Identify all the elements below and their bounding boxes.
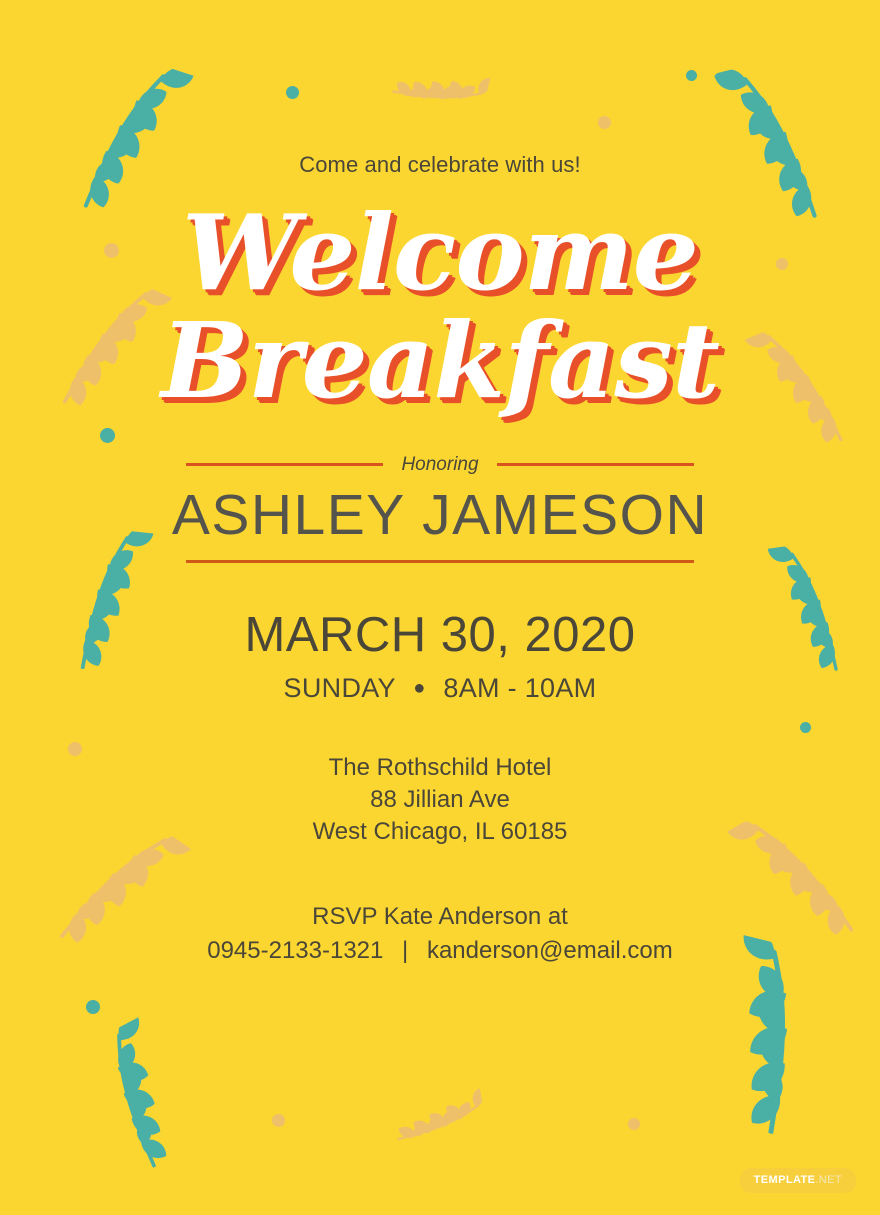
honoring-rule-left <box>186 463 383 466</box>
rsvp-contacts: 0945-2133-1321 | kanderson@email.com <box>207 934 673 968</box>
event-day-time: SUNDAY ● 8AM - 10AM <box>284 673 597 704</box>
honoring-rule-right <box>497 463 694 466</box>
event-date: MARCH 30, 2020 <box>244 607 635 663</box>
honoree-rule-bottom <box>186 560 694 563</box>
honoree-name: ASHLEY JAMESON <box>172 482 708 548</box>
tagline: Come and celebrate with us! <box>299 152 581 178</box>
rsvp-email[interactable]: kanderson@email.com <box>427 937 673 964</box>
title-block: Welcome Breakfast <box>161 202 719 412</box>
watermark-brand: TEMPLATE <box>754 1174 816 1186</box>
rsvp-phone[interactable]: 0945-2133-1321 <box>207 937 383 964</box>
invitation-card: Come and celebrate with us! Welcome Brea… <box>0 0 880 1215</box>
honoring-row: Honoring <box>186 454 694 476</box>
venue-street: 88 Jillian Ave <box>313 784 568 816</box>
watermark-tld: .NET <box>815 1174 842 1186</box>
invitation-content: Come and celebrate with us! Welcome Brea… <box>0 0 880 1215</box>
honoring-label: Honoring <box>401 454 478 476</box>
event-day: SUNDAY <box>284 673 396 703</box>
title-line-breakfast: Breakfast <box>161 310 719 412</box>
venue-city-state-zip: West Chicago, IL 60185 <box>313 816 568 848</box>
rsvp-block: RSVP Kate Anderson at 0945-2133-1321 | k… <box>207 900 673 968</box>
event-time: 8AM - 10AM <box>443 673 596 703</box>
venue-block: The Rothschild Hotel 88 Jillian Ave West… <box>313 752 568 848</box>
rsvp-line: RSVP Kate Anderson at <box>207 900 673 934</box>
title-line-welcome: Welcome <box>161 202 719 304</box>
venue-name: The Rothschild Hotel <box>313 752 568 784</box>
rsvp-separator: | <box>402 934 408 968</box>
day-time-separator-icon: ● <box>413 677 425 700</box>
template-watermark-badge: TEMPLATE.NET <box>740 1168 856 1193</box>
